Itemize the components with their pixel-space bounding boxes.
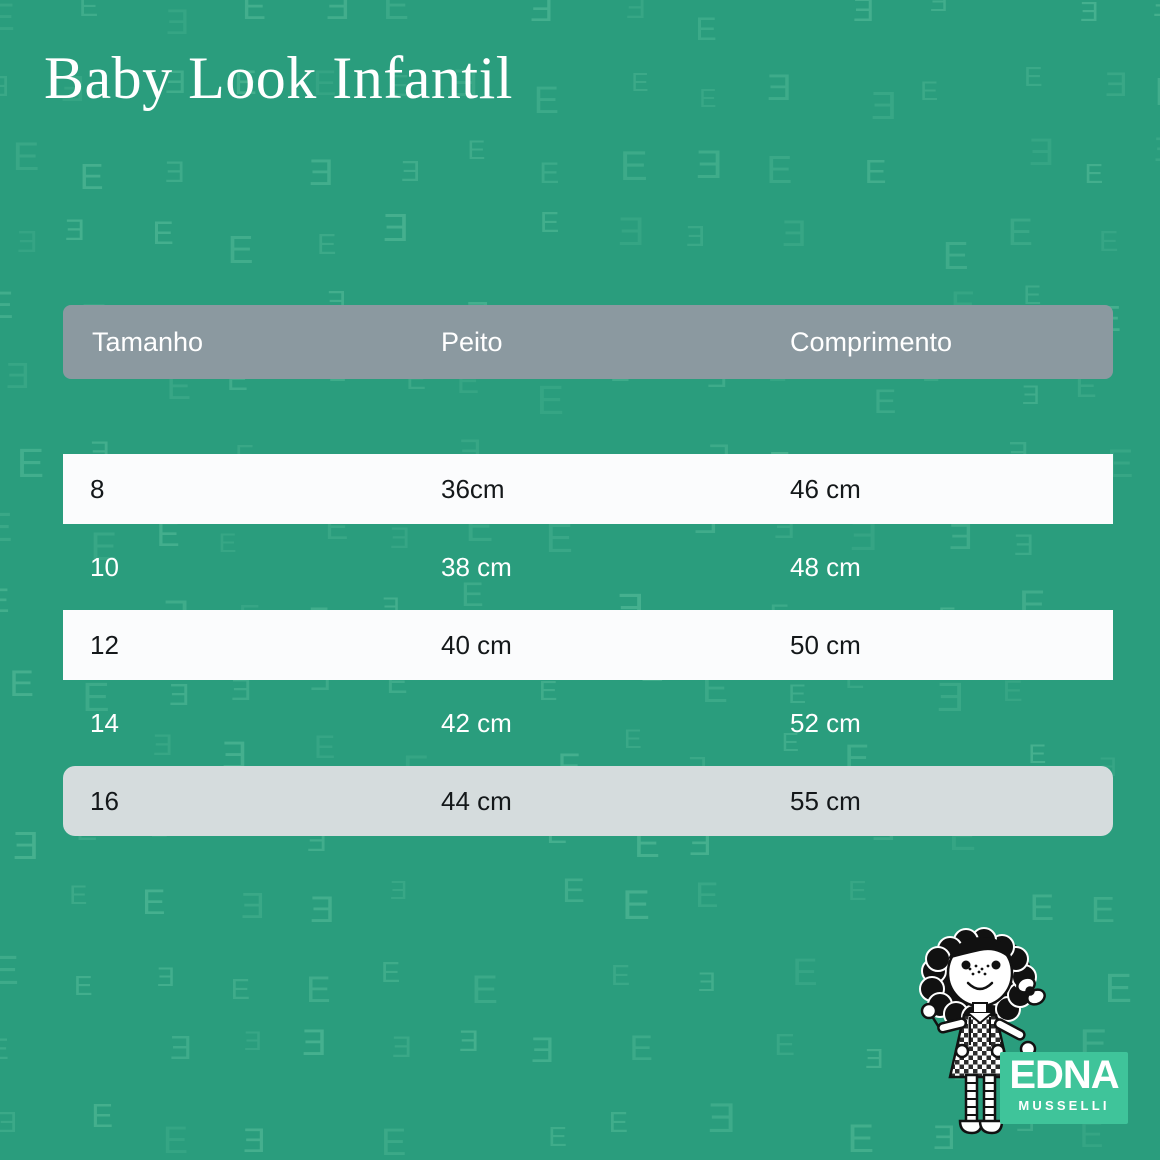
- pattern-letter-e: E: [13, 137, 40, 177]
- pattern-letter-e: E: [166, 5, 189, 40]
- row-spacer: [63, 524, 1113, 532]
- cell-length: 55 cm: [790, 786, 861, 817]
- pattern-letter-e: E: [69, 882, 87, 909]
- table-row: 8 36cm 46 cm: [63, 454, 1113, 524]
- pattern-letter-e: E: [91, 1099, 113, 1132]
- pattern-letter-e: E: [695, 878, 718, 913]
- table-row: 16 44 cm 55 cm: [63, 766, 1113, 836]
- pattern-letter-e: E: [1155, 73, 1160, 112]
- pattern-letter-e: E: [708, 1097, 736, 1139]
- pattern-letter-e: E: [539, 159, 559, 189]
- pattern-letter-e: E: [943, 237, 969, 276]
- pattern-letter-e: E: [0, 950, 19, 991]
- pattern-letter-e: E: [383, 209, 409, 248]
- pattern-letter-e: E: [609, 1109, 628, 1138]
- pattern-letter-e: E: [170, 1031, 192, 1064]
- pattern-letter-e: E: [767, 69, 792, 106]
- pattern-letter-e: E: [152, 217, 173, 249]
- pattern-letter-e: E: [540, 209, 559, 238]
- table-row: 14 42 cm 52 cm: [63, 688, 1113, 758]
- pattern-letter-e: E: [622, 884, 650, 926]
- page-title: Baby Look Infantil: [44, 44, 513, 113]
- poster-canvas: EEEEEEEEEEEEEEEEEEEEEEEEEEEEEEEEEEEEEEEE…: [0, 0, 1160, 1160]
- pattern-letter-e: E: [0, 507, 13, 548]
- pattern-letter-e: E: [847, 1119, 874, 1159]
- cell-chest: 36cm: [441, 474, 505, 505]
- pattern-letter-e: E: [0, 287, 13, 325]
- row-spacer: [63, 602, 1113, 610]
- cell-length: 48 cm: [790, 552, 861, 583]
- cell-chest: 38 cm: [441, 552, 512, 583]
- pattern-letter-e: E: [0, 73, 9, 102]
- pattern-letter-e: E: [1080, 0, 1099, 26]
- table-row: 10 38 cm 48 cm: [63, 532, 1113, 602]
- pattern-letter-e: E: [0, 0, 15, 37]
- pattern-letter-e: E: [562, 874, 585, 908]
- pattern-letter-e: E: [13, 827, 39, 866]
- pattern-letter-e: E: [471, 970, 498, 1010]
- pattern-letter-e: E: [1099, 228, 1118, 257]
- pattern-letter-e: E: [1091, 892, 1115, 928]
- pattern-letter-e: E: [531, 1033, 554, 1068]
- cell-chest: 44 cm: [441, 786, 512, 817]
- pattern-letter-e: E: [1030, 889, 1055, 926]
- pattern-letter-e: E: [17, 443, 44, 484]
- pattern-letter-e: E: [548, 1123, 567, 1151]
- pattern-letter-e: E: [698, 969, 716, 996]
- pattern-letter-e: E: [326, 0, 350, 25]
- pattern-letter-e: E: [74, 972, 93, 1000]
- cell-size: 10: [90, 552, 119, 583]
- pattern-letter-e: E: [774, 1029, 795, 1060]
- pattern-letter-e: E: [1154, 133, 1160, 167]
- cell-size: 14: [90, 708, 119, 739]
- brand-logo-box: EDNA MUSSELLI: [1000, 1052, 1128, 1124]
- pattern-letter-e: E: [611, 962, 630, 991]
- pattern-letter-e: E: [766, 151, 792, 190]
- pattern-letter-e: E: [79, 0, 98, 22]
- pattern-letter-e: E: [459, 1027, 479, 1057]
- pattern-letter-e: E: [165, 158, 185, 188]
- cell-chest: 40 cm: [441, 630, 512, 661]
- pattern-letter-e: E: [80, 159, 104, 195]
- pattern-letter-e: E: [0, 1035, 9, 1065]
- pattern-letter-e: E: [383, 0, 409, 26]
- brand-subtitle: MUSSELLI: [1000, 1098, 1128, 1113]
- pattern-letter-e: E: [0, 1109, 17, 1138]
- cell-size: 12: [90, 630, 119, 661]
- pattern-letter-e: E: [1085, 160, 1104, 188]
- pattern-letter-e: E: [163, 1122, 188, 1160]
- cell-size: 8: [90, 474, 104, 505]
- pattern-letter-e: E: [695, 13, 716, 45]
- pattern-letter-e: E: [930, 0, 948, 16]
- pattern-letter-e: E: [853, 0, 874, 26]
- pattern-letter-e: E: [631, 69, 648, 95]
- cell-length: 52 cm: [790, 708, 861, 739]
- pattern-letter-e: E: [302, 1024, 327, 1061]
- row-spacer: [63, 680, 1113, 688]
- pattern-letter-e: E: [157, 964, 175, 991]
- pattern-letter-e: E: [530, 0, 553, 27]
- pattern-letter-e: E: [1029, 134, 1054, 172]
- pattern-letter-e: E: [696, 145, 723, 185]
- row-spacer: [63, 758, 1113, 766]
- pattern-letter-e: E: [630, 1031, 653, 1066]
- table-row: 12 40 cm 50 cm: [63, 610, 1113, 680]
- pattern-letter-e: E: [865, 1045, 884, 1073]
- pattern-letter-e: E: [317, 231, 336, 260]
- pattern-letter-e: E: [241, 888, 265, 924]
- pattern-letter-e: E: [310, 891, 335, 928]
- pattern-letter-e: E: [309, 154, 334, 191]
- pattern-letter-e: E: [244, 1028, 262, 1055]
- pattern-letter-e: E: [65, 216, 85, 246]
- pattern-letter-e: E: [1105, 68, 1128, 102]
- pattern-letter-e: E: [686, 223, 705, 252]
- pattern-letter-e: E: [17, 226, 38, 257]
- pattern-letter-e: E: [231, 976, 250, 1005]
- pattern-letter-e: E: [920, 78, 938, 105]
- pattern-letter-e: E: [1008, 214, 1033, 252]
- pattern-letter-e: E: [306, 971, 331, 1008]
- pattern-letter-e: E: [534, 82, 559, 120]
- size-table: Tamanho Peito Comprimento 8 36cm 46 cm 1…: [63, 305, 1113, 836]
- pattern-letter-e: E: [620, 145, 648, 187]
- table-header-row: Tamanho Peito Comprimento: [63, 305, 1113, 379]
- pattern-letter-e: E: [0, 584, 10, 618]
- cell-length: 50 cm: [790, 630, 861, 661]
- pattern-letter-e: E: [243, 1124, 266, 1158]
- pattern-letter-e: E: [6, 358, 30, 394]
- pattern-letter-e: E: [618, 212, 645, 252]
- pattern-letter-e: E: [864, 155, 886, 188]
- brand-name: EDNA: [1000, 1053, 1128, 1097]
- pattern-letter-e: E: [626, 0, 646, 24]
- pattern-letter-e: E: [848, 877, 867, 905]
- cell-length: 46 cm: [790, 474, 861, 505]
- pattern-letter-e: E: [782, 215, 807, 252]
- pattern-letter-e: E: [1024, 63, 1043, 91]
- pattern-letter-e: E: [381, 959, 400, 988]
- pattern-letter-e: E: [467, 137, 485, 164]
- pattern-letter-e: E: [142, 885, 165, 920]
- pattern-letter-e: E: [390, 877, 407, 903]
- pattern-letter-e: E: [871, 87, 897, 126]
- pattern-letter-e: E: [792, 954, 817, 992]
- pattern-letter-e: E: [392, 1033, 412, 1063]
- column-header-chest: Peito: [441, 327, 503, 358]
- cell-chest: 42 cm: [441, 708, 512, 739]
- pattern-letter-e: E: [1153, 0, 1160, 22]
- pattern-letter-e: E: [227, 231, 253, 270]
- column-header-length: Comprimento: [790, 327, 952, 358]
- pattern-letter-e: E: [381, 1124, 406, 1160]
- pattern-letter-e: E: [9, 665, 34, 702]
- pattern-letter-e: E: [699, 85, 716, 111]
- cell-size: 16: [90, 786, 119, 817]
- pattern-letter-e: E: [242, 0, 266, 25]
- column-header-size: Tamanho: [92, 327, 203, 358]
- pattern-letter-e: E: [401, 158, 420, 187]
